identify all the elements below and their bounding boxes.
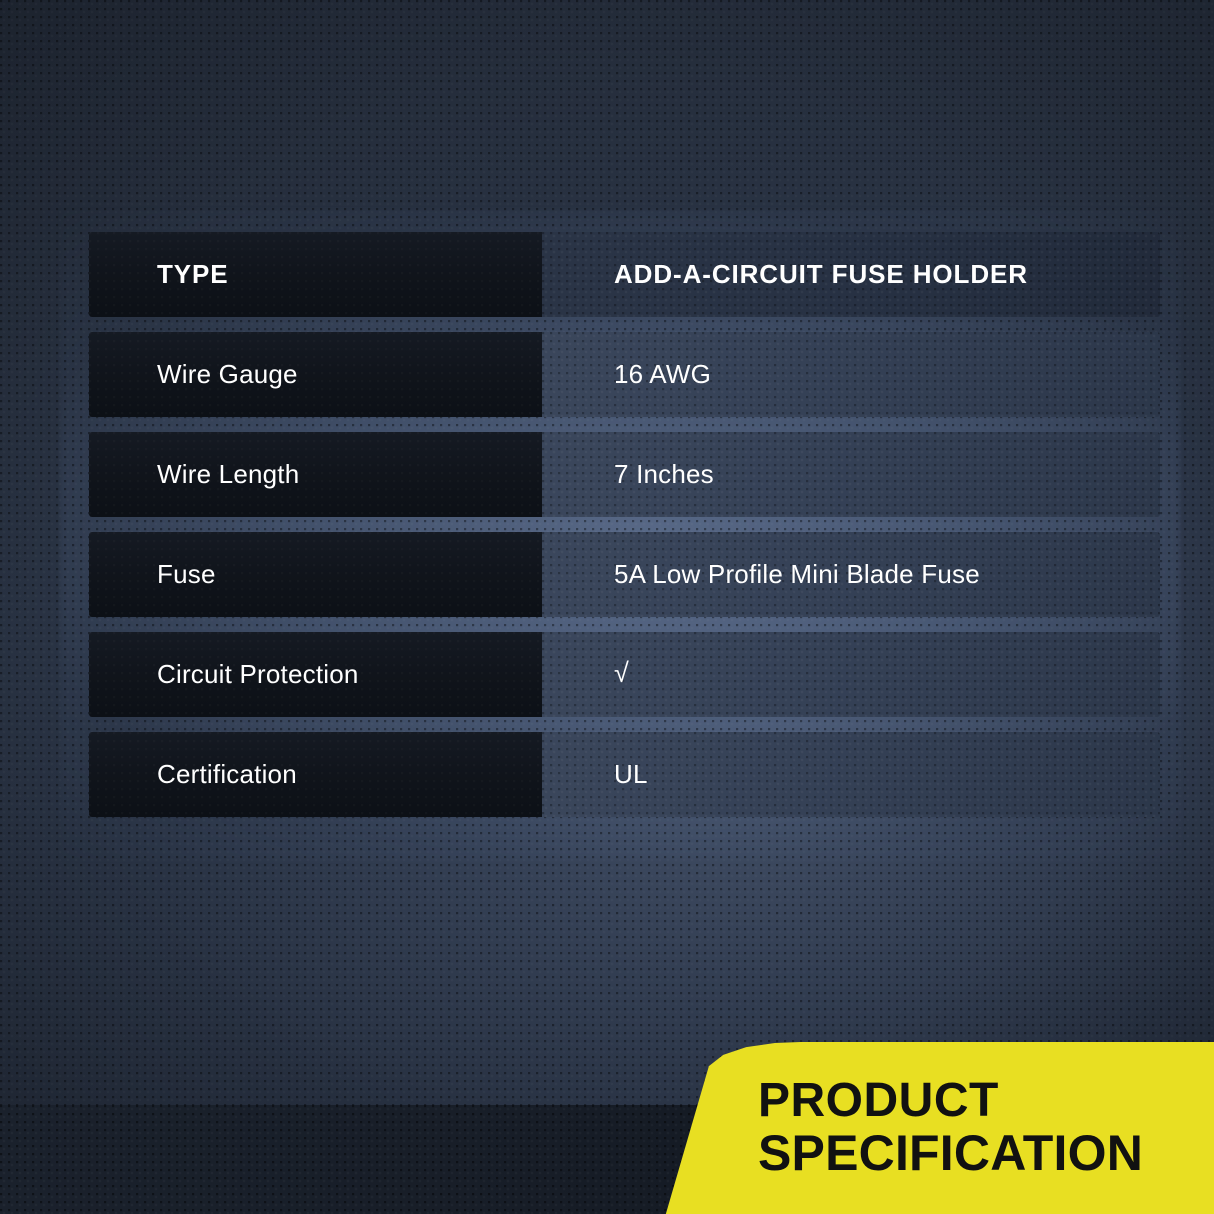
spec-label-cell: Wire Length [89, 432, 542, 517]
spec-row: TYPEADD-A-CIRCUIT FUSE HOLDER [89, 232, 1160, 317]
spec-value-text: 7 Inches [614, 459, 714, 490]
spec-label-text: Wire Gauge [157, 359, 298, 390]
spec-value-text: 5A Low Profile Mini Blade Fuse [614, 559, 980, 590]
spec-row: Circuit Protection√ [89, 632, 1160, 717]
spec-value-text: UL [614, 759, 648, 790]
spec-row: Wire Gauge16 AWG [89, 332, 1160, 417]
spec-label-text: Wire Length [157, 459, 299, 490]
spec-label-cell: Circuit Protection [89, 632, 542, 717]
spec-value-cell: 5A Low Profile Mini Blade Fuse [542, 532, 1160, 617]
spec-label-cell: Wire Gauge [89, 332, 542, 417]
spec-label-cell: TYPE [89, 232, 542, 317]
spec-row: Fuse5A Low Profile Mini Blade Fuse [89, 532, 1160, 617]
spec-value-cell: UL [542, 732, 1160, 817]
spec-value-cell: ADD-A-CIRCUIT FUSE HOLDER [542, 232, 1160, 317]
product-specification-banner: PRODUCT SPECIFICATION [640, 1042, 1214, 1214]
banner-title-line-1: PRODUCT [758, 1076, 1214, 1127]
spec-label-text: TYPE [157, 259, 229, 290]
banner-title-line-2: SPECIFICATION [758, 1127, 1214, 1180]
product-specification-image: TYPEADD-A-CIRCUIT FUSE HOLDERWire Gauge1… [0, 0, 1214, 1214]
spec-value-cell: √ [542, 632, 1160, 717]
spec-row: CertificationUL [89, 732, 1160, 817]
spec-value-text: 16 AWG [614, 359, 711, 390]
spec-label-text: Fuse [157, 559, 216, 590]
specification-table: TYPEADD-A-CIRCUIT FUSE HOLDERWire Gauge1… [89, 232, 1160, 817]
spec-label-cell: Certification [89, 732, 542, 817]
spec-label-text: Circuit Protection [157, 659, 359, 690]
check-mark-icon: √ [614, 660, 629, 687]
spec-value-text: ADD-A-CIRCUIT FUSE HOLDER [614, 259, 1028, 290]
spec-value-cell: 16 AWG [542, 332, 1160, 417]
spec-row: Wire Length7 Inches [89, 432, 1160, 517]
spec-label-text: Certification [157, 759, 297, 790]
spec-label-cell: Fuse [89, 532, 542, 617]
spec-value-cell: 7 Inches [542, 432, 1160, 517]
